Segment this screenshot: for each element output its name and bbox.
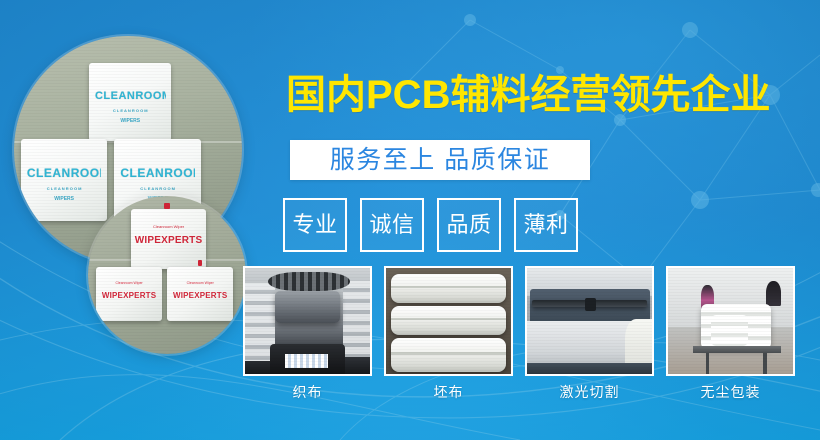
roll-tie: [391, 352, 506, 354]
value-tag-quality[interactable]: 品质: [437, 198, 501, 252]
cutter-base: [527, 363, 652, 374]
value-tag-label: 品质: [446, 214, 491, 236]
value-tag-professional[interactable]: 专业: [283, 198, 347, 252]
pack-brand-label: CLEANROOM: [95, 90, 166, 102]
wipexperts-pack-right: Cleanroom Wiper WIPEXPERTS: [167, 267, 233, 321]
process-caption: 织布: [293, 385, 323, 399]
pack-sub-label: Cleanroom Wiper: [167, 281, 233, 285]
wipe-stack: [711, 315, 749, 347]
pack-sub-label-1: C L E A N R O O M: [21, 186, 108, 191]
pack-sub-label: Cleanroom Wiper: [131, 224, 207, 229]
process-item-laser-cutting[interactable]: 激光切割: [525, 266, 654, 399]
pack-sub-label-2: WIPERS: [89, 118, 171, 124]
value-tag-label: 薄利: [523, 214, 568, 236]
wipexperts-pack-left: Cleanroom Wiper WIPEXPERTS: [96, 267, 162, 321]
process-photo-laser-cutting: [525, 266, 654, 376]
process-caption: 坯布: [434, 385, 464, 399]
pack-brand-label: CLEANROOM: [27, 166, 102, 180]
pack-brand-label: WIPEXPERTS: [134, 235, 204, 246]
pack-brand-label: CLEANROOM: [120, 166, 195, 180]
machine-needle-ring: [268, 272, 351, 291]
banner-subtitle-box: 服务至上 品质保证: [290, 140, 590, 180]
worker-figure: [766, 281, 781, 306]
process-caption: 无尘包装: [701, 385, 761, 399]
process-caption: 激光切割: [560, 385, 620, 399]
process-photo-cleanroom-packaging: [666, 266, 795, 376]
pack-brand-label: WIPEXPERTS: [170, 291, 231, 300]
fabric-roll: [391, 338, 506, 372]
pack-stamp: [198, 260, 203, 266]
fabric-roll: [391, 274, 506, 303]
laser-cutter-image: [527, 268, 652, 374]
pack-brand-label: WIPEXPERTS: [99, 291, 160, 300]
value-tag-label: 诚信: [369, 214, 414, 236]
laser-head: [585, 298, 596, 312]
process-item-weaving[interactable]: 织布: [243, 266, 372, 399]
fabric-roll: [391, 306, 506, 335]
process-photo-strip: 织布 坯布: [243, 266, 795, 399]
knitted-fabric: [285, 354, 328, 368]
process-photo-weaving: [243, 266, 372, 376]
yarn-spools-right: [343, 281, 371, 357]
wipexperts-pack-top: Cleanroom Wiper WIPEXPERTS: [131, 209, 207, 269]
fabric-sheet: [625, 319, 653, 368]
pack-sub-label-1: C L E A N R O O M: [89, 108, 171, 113]
process-item-greige-fabric[interactable]: 坯布: [384, 266, 513, 399]
roll-tie: [391, 318, 506, 320]
promo-banner: CLEANROOM C L E A N R O O M WIPERS CLEAN…: [0, 0, 820, 440]
value-tag-list: 专业 诚信 品质 薄利: [283, 198, 578, 252]
banner-headline: 国内PCB辅料经营领先企业: [286, 70, 770, 120]
pack-sub-label-1: C L E A N R O O M: [114, 186, 201, 191]
process-item-cleanroom-packaging[interactable]: 无尘包装: [666, 266, 795, 399]
pack-stamp: [164, 203, 170, 210]
roll-tie: [391, 286, 506, 288]
machine-head: [275, 291, 340, 323]
value-tag-label: 专业: [292, 214, 337, 236]
value-tag-integrity[interactable]: 诚信: [360, 198, 424, 252]
value-tag-low-margin[interactable]: 薄利: [514, 198, 578, 252]
pack-sub-label: Cleanroom Wiper: [96, 281, 162, 285]
table-leg: [706, 353, 710, 374]
table-leg: [763, 353, 767, 374]
knitting-machine-image: [245, 268, 370, 374]
fabric-rolls-image: [386, 268, 511, 374]
wipes-pack-top: CLEANROOM C L E A N R O O M WIPERS: [89, 63, 171, 141]
process-photo-greige-fabric: [384, 266, 513, 376]
product-photo-wipexperts: Cleanroom Wiper WIPEXPERTS Cleanroom Wip…: [88, 196, 246, 354]
banner-subtitle-text: 服务至上 品质保证: [330, 148, 550, 173]
packaging-room-image: [668, 268, 793, 374]
